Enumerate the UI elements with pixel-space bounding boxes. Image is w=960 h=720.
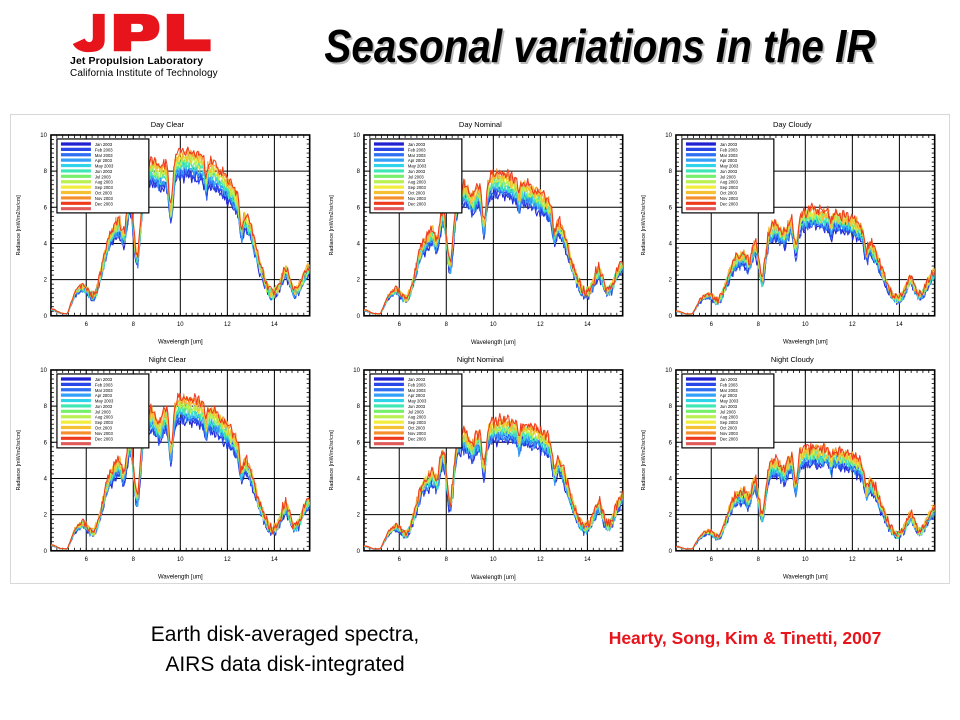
chart-legend: Jan 2003Feb 2003Mar 2003Apr 2003May 2003… <box>370 139 462 213</box>
x-tick-label: 6 <box>85 557 89 563</box>
x-axis-label: Wavelength [um] <box>158 575 203 581</box>
legend-label: Aug 2003 <box>95 180 114 185</box>
legend-label: Mar 2003 <box>95 388 113 393</box>
y-axis-label: Radiance [mW/m2/sr/cm] <box>329 195 335 256</box>
legend-label: May 2003 <box>408 398 427 403</box>
x-tick-label: 8 <box>444 322 448 328</box>
y-tick-label: 8 <box>44 404 48 410</box>
x-axis-label: Wavelength [um] <box>783 340 828 346</box>
chart-night-cloudy: Night Cloudy681012140246810Wavelength [u… <box>636 350 949 585</box>
legend-label: May 2003 <box>95 398 114 403</box>
legend-label: Mar 2003 <box>720 388 738 393</box>
legend-label: May 2003 <box>408 164 427 169</box>
legend-label: Apr 2003 <box>720 158 738 163</box>
chart-legend: Jan 2003Feb 2003Mar 2003Apr 2003May 2003… <box>370 374 462 448</box>
x-tick-label: 12 <box>537 557 544 563</box>
legend-label: Nov 2003 <box>95 196 114 201</box>
legend-label: Jun 2003 <box>408 169 426 174</box>
chart-day-clear: Day Clear681012140246810Wavelength [um]R… <box>11 115 324 350</box>
y-tick-label: 0 <box>669 549 673 555</box>
y-tick-label: 4 <box>356 241 360 247</box>
y-tick-label: 4 <box>669 241 673 247</box>
legend-label: Jan 2003 <box>408 377 426 382</box>
legend-label: Mar 2003 <box>95 153 113 158</box>
legend-label: Aug 2003 <box>408 180 427 185</box>
legend-label: Apr 2003 <box>720 393 738 398</box>
x-tick-label: 10 <box>177 322 184 328</box>
y-tick-label: 2 <box>356 512 360 518</box>
y-tick-label: 4 <box>669 476 673 482</box>
x-tick-label: 10 <box>490 322 497 328</box>
legend-label: Nov 2003 <box>408 196 427 201</box>
spectra-figure: Day Clear681012140246810Wavelength [um]R… <box>10 114 950 584</box>
x-tick-label: 6 <box>85 322 89 328</box>
x-tick-label: 12 <box>224 322 231 328</box>
x-tick-label: 12 <box>849 322 856 328</box>
legend-label: Oct 2003 <box>720 191 738 196</box>
legend-label: Feb 2003 <box>720 147 738 152</box>
y-tick-label: 6 <box>44 440 48 446</box>
jpl-logo: Jet Propulsion Laboratory California Ins… <box>70 12 230 79</box>
x-tick-label: 14 <box>271 557 278 563</box>
y-tick-label: 4 <box>356 476 360 482</box>
y-axis-label: Radiance [mW/m2/sr/cm] <box>16 195 22 256</box>
chart-legend: Jan 2003Feb 2003Mar 2003Apr 2003May 2003… <box>682 374 774 448</box>
legend-label: Apr 2003 <box>95 158 113 163</box>
legend-label: May 2003 <box>95 164 114 169</box>
legend-label: Jul 2003 <box>408 174 425 179</box>
x-axis-label: Wavelength [um] <box>471 575 516 581</box>
x-tick-label: 14 <box>896 557 903 563</box>
legend-label: Jan 2003 <box>95 377 113 382</box>
legend-label: Sep 2003 <box>408 420 427 425</box>
legend-label: Jul 2003 <box>720 174 737 179</box>
y-tick-label: 8 <box>669 169 673 175</box>
y-tick-label: 0 <box>44 549 48 555</box>
y-tick-label: 10 <box>353 368 360 374</box>
legend-label: Nov 2003 <box>720 196 739 201</box>
legend-label: Jul 2003 <box>95 174 112 179</box>
y-tick-label: 0 <box>669 314 673 320</box>
y-axis-label: Radiance [mW/m2/sr/cm] <box>641 429 647 490</box>
legend-label: Oct 2003 <box>720 425 738 430</box>
y-tick-label: 2 <box>669 512 673 518</box>
legend-label: Mar 2003 <box>720 153 738 158</box>
chart-title: Day Nominal <box>459 120 502 129</box>
x-tick-label: 12 <box>537 322 544 328</box>
legend-label: May 2003 <box>720 398 739 403</box>
y-tick-label: 6 <box>669 440 673 446</box>
legend-label: Nov 2003 <box>408 431 427 436</box>
x-axis-label: Wavelength [um] <box>783 575 828 581</box>
x-tick-label: 6 <box>397 322 401 328</box>
x-tick-label: 12 <box>224 557 231 563</box>
legend-label: Dec 2003 <box>408 436 427 441</box>
figure-caption: Earth disk-averaged spectra, AIRS data d… <box>100 620 470 680</box>
y-tick-label: 6 <box>44 205 48 211</box>
x-tick-label: 8 <box>757 557 761 563</box>
y-tick-label: 8 <box>44 169 48 175</box>
y-tick-label: 2 <box>44 278 48 284</box>
caption-line-2: AIRS data disk-integrated <box>100 650 470 680</box>
y-tick-label: 10 <box>353 133 360 139</box>
legend-label: May 2003 <box>720 164 739 169</box>
x-tick-label: 10 <box>490 557 497 563</box>
x-tick-label: 14 <box>584 557 591 563</box>
legend-label: Dec 2003 <box>720 201 739 206</box>
x-tick-label: 12 <box>849 557 856 563</box>
x-tick-label: 10 <box>802 557 809 563</box>
legend-label: Feb 2003 <box>408 382 426 387</box>
x-tick-label: 14 <box>896 322 903 328</box>
legend-label: Dec 2003 <box>95 436 114 441</box>
legend-label: Apr 2003 <box>408 158 426 163</box>
y-axis-label: Radiance [mW/m2/sr/cm] <box>16 429 22 490</box>
y-tick-label: 10 <box>666 368 673 374</box>
panel-day-clear: Day Clear681012140246810Wavelength [um]R… <box>11 115 324 350</box>
chart-title: Night Cloudy <box>771 355 814 364</box>
y-tick-label: 2 <box>356 278 360 284</box>
page-title: Seasonal variations in the IR <box>296 18 903 74</box>
y-tick-label: 6 <box>356 440 360 446</box>
legend-label: Mar 2003 <box>408 388 426 393</box>
chart-title: Day Cloudy <box>773 120 812 129</box>
x-tick-label: 10 <box>177 557 184 563</box>
legend-label: Sep 2003 <box>95 420 114 425</box>
legend-label: Oct 2003 <box>408 191 426 196</box>
y-tick-label: 8 <box>356 169 360 175</box>
panel-grid: Day Clear681012140246810Wavelength [um]R… <box>11 115 949 583</box>
x-tick-label: 14 <box>584 322 591 328</box>
legend-label: Jul 2003 <box>720 409 737 414</box>
chart-legend: Jan 2003Feb 2003Mar 2003Apr 2003May 2003… <box>57 374 149 448</box>
caption-line-1: Earth disk-averaged spectra, <box>100 620 470 650</box>
legend-label: Aug 2003 <box>720 180 739 185</box>
x-axis-label: Wavelength [um] <box>471 340 516 346</box>
legend-label: Feb 2003 <box>95 382 113 387</box>
chart-legend: Jan 2003Feb 2003Mar 2003Apr 2003May 2003… <box>57 139 149 213</box>
legend-label: Oct 2003 <box>95 191 113 196</box>
legend-label: Feb 2003 <box>95 147 113 152</box>
x-tick-label: 10 <box>802 322 809 328</box>
y-tick-label: 4 <box>44 241 48 247</box>
y-tick-label: 2 <box>44 512 48 518</box>
panel-night-cloudy: Night Cloudy681012140246810Wavelength [u… <box>636 350 949 585</box>
legend-label: Jun 2003 <box>720 404 738 409</box>
y-tick-label: 0 <box>356 314 360 320</box>
panel-day-cloudy: Day Cloudy681012140246810Wavelength [um]… <box>636 115 949 350</box>
legend-label: Dec 2003 <box>720 436 739 441</box>
chart-legend: Jan 2003Feb 2003Mar 2003Apr 2003May 2003… <box>682 139 774 213</box>
panel-night-clear: Night Clear681012140246810Wavelength [um… <box>11 350 324 585</box>
legend-label: Aug 2003 <box>720 414 739 419</box>
legend-label: Jul 2003 <box>408 409 425 414</box>
chart-title: Night Clear <box>149 355 187 364</box>
legend-label: Sep 2003 <box>95 185 114 190</box>
y-tick-label: 8 <box>669 404 673 410</box>
credit-line: Hearty, Song, Kim & Tinetti, 2007 <box>540 628 950 649</box>
legend-label: Sep 2003 <box>720 420 739 425</box>
x-tick-label: 6 <box>397 557 401 563</box>
legend-label: Nov 2003 <box>720 431 739 436</box>
legend-label: Jan 2003 <box>720 377 738 382</box>
legend-label: Oct 2003 <box>95 425 113 430</box>
legend-label: Aug 2003 <box>408 414 427 419</box>
chart-day-nominal: Day Nominal681012140246810Wavelength [um… <box>324 115 637 350</box>
x-axis-label: Wavelength [um] <box>158 340 203 346</box>
y-tick-label: 10 <box>40 368 47 374</box>
chart-night-nominal: Night Nominal681012140246810Wavelength [… <box>324 350 637 585</box>
legend-label: Feb 2003 <box>408 147 426 152</box>
legend-label: Aug 2003 <box>95 414 114 419</box>
chart-night-clear: Night Clear681012140246810Wavelength [um… <box>11 350 324 585</box>
legend-label: Jun 2003 <box>720 169 738 174</box>
legend-label: Mar 2003 <box>408 153 426 158</box>
x-tick-label: 8 <box>132 322 136 328</box>
y-tick-label: 10 <box>40 133 47 139</box>
y-tick-label: 4 <box>44 476 48 482</box>
y-tick-label: 8 <box>356 404 360 410</box>
y-tick-label: 6 <box>356 205 360 211</box>
jpl-wordmark-icon <box>70 12 225 54</box>
legend-label: Feb 2003 <box>720 382 738 387</box>
legend-label: Jun 2003 <box>95 404 113 409</box>
legend-label: Jun 2003 <box>408 404 426 409</box>
panel-night-nominal: Night Nominal681012140246810Wavelength [… <box>324 350 637 585</box>
y-tick-label: 10 <box>666 133 673 139</box>
x-tick-label: 6 <box>710 557 714 563</box>
y-tick-label: 2 <box>669 278 673 284</box>
x-tick-label: 8 <box>444 557 448 563</box>
x-tick-label: 8 <box>757 322 761 328</box>
legend-label: Jan 2003 <box>95 142 113 147</box>
x-tick-label: 8 <box>132 557 136 563</box>
y-axis-label: Radiance [mW/m2/sr/cm] <box>641 195 647 256</box>
y-tick-label: 0 <box>356 549 360 555</box>
legend-label: Jun 2003 <box>95 169 113 174</box>
legend-label: Jan 2003 <box>720 142 738 147</box>
legend-label: Sep 2003 <box>720 185 739 190</box>
jpl-lab-line: Jet Propulsion Laboratory <box>70 55 230 67</box>
legend-label: Jan 2003 <box>408 142 426 147</box>
x-tick-label: 6 <box>710 322 714 328</box>
x-tick-label: 14 <box>271 322 278 328</box>
legend-label: Dec 2003 <box>95 201 114 206</box>
legend-label: Nov 2003 <box>95 431 114 436</box>
chart-title: Day Clear <box>151 120 185 129</box>
chart-day-cloudy: Day Cloudy681012140246810Wavelength [um]… <box>636 115 949 350</box>
y-tick-label: 0 <box>44 314 48 320</box>
y-axis-label: Radiance [mW/m2/sr/cm] <box>329 429 335 490</box>
jpl-institute-line: California Institute of Technology <box>70 68 230 79</box>
panel-day-nominal: Day Nominal681012140246810Wavelength [um… <box>324 115 637 350</box>
legend-label: Apr 2003 <box>95 393 113 398</box>
legend-label: Dec 2003 <box>408 201 427 206</box>
chart-title: Night Nominal <box>456 355 503 364</box>
legend-label: Apr 2003 <box>408 393 426 398</box>
y-tick-label: 6 <box>669 205 673 211</box>
legend-label: Oct 2003 <box>408 425 426 430</box>
legend-label: Sep 2003 <box>408 185 427 190</box>
legend-label: Jul 2003 <box>95 409 112 414</box>
